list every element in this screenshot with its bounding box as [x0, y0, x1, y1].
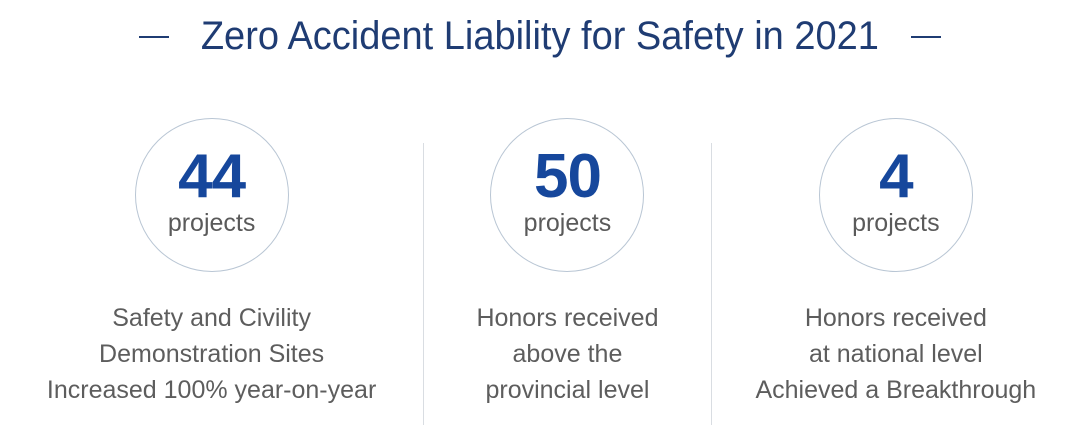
stat-circle-3: 4 projects [819, 118, 973, 272]
page-title: Zero Accident Liability for Safety in 20… [0, 14, 1080, 59]
caption-line: above the [476, 337, 658, 373]
caption-line: Achieved a Breakthrough [755, 373, 1036, 409]
stats-row: 44 projects Safety and Civility Demonstr… [0, 118, 1080, 439]
caption-line: at national level [755, 337, 1036, 373]
caption-line: provincial level [476, 373, 658, 409]
caption-line: Honors received [755, 301, 1036, 337]
stat-circle-2: 50 projects [490, 118, 644, 272]
caption-line: Demonstration Sites [47, 337, 376, 373]
stat-caption-2: Honors received above the provincial lev… [476, 301, 658, 408]
stat-number-3: 4 [879, 148, 912, 205]
stat-number-2: 50 [534, 148, 601, 205]
page-title-text: Zero Accident Liability for Safety in 20… [201, 14, 879, 59]
stat-column-3: 4 projects Honors received at national l… [712, 118, 1080, 439]
stat-unit-1: projects [168, 210, 256, 238]
stat-caption-3: Honors received at national level Achiev… [755, 301, 1036, 408]
title-dash-left-icon [139, 36, 169, 38]
infographic-root: Zero Accident Liability for Safety in 20… [0, 0, 1080, 439]
stat-caption-1: Safety and Civility Demonstration Sites … [47, 301, 376, 408]
stat-circle-1: 44 projects [135, 118, 289, 272]
caption-line: Honors received [476, 301, 658, 337]
stat-column-2: 50 projects Honors received above the pr… [424, 118, 710, 439]
caption-line: Safety and Civility [47, 301, 376, 337]
stat-number-1: 44 [178, 148, 245, 205]
title-dash-right-icon [911, 36, 941, 38]
stat-unit-3: projects [852, 210, 940, 238]
stat-unit-2: projects [524, 210, 612, 238]
stat-column-1: 44 projects Safety and Civility Demonstr… [0, 118, 423, 439]
caption-line: Increased 100% year-on-year [47, 373, 376, 409]
